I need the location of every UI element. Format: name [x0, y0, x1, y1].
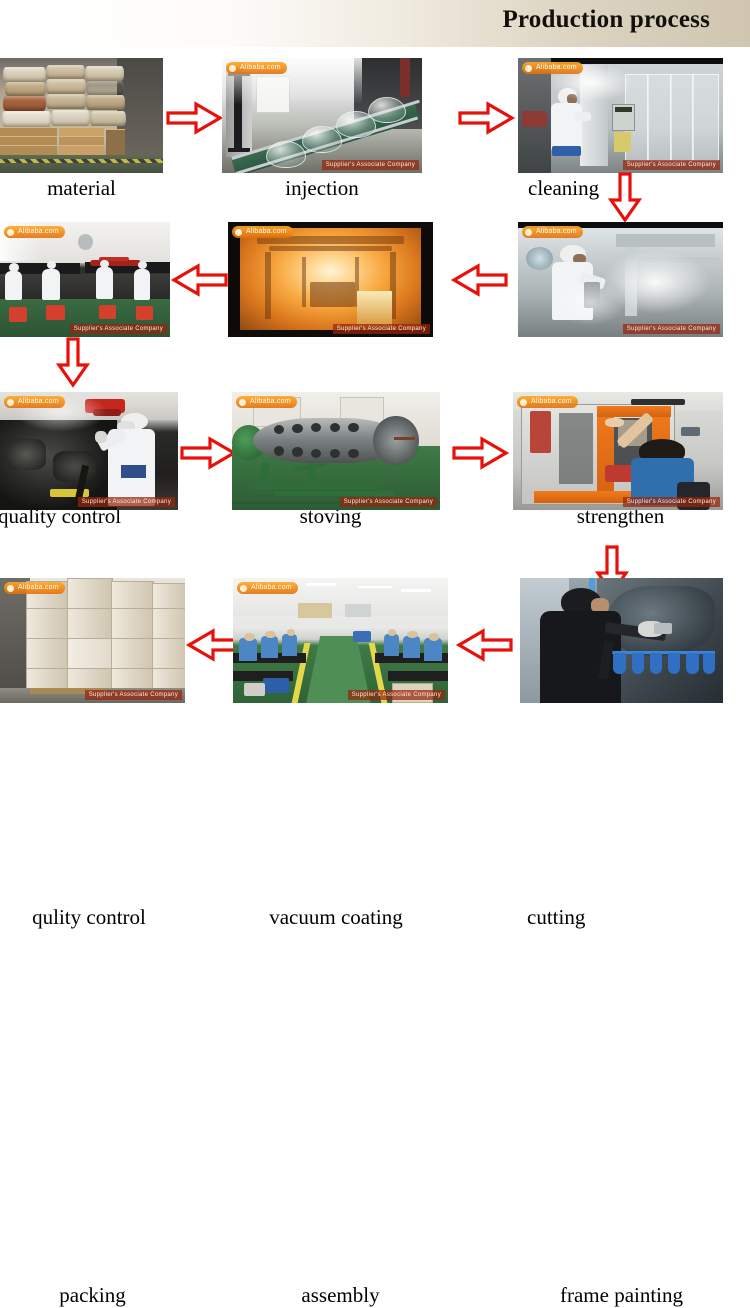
supplier-badge: Supplier's Associate Company	[623, 160, 720, 170]
photo-assembly-hall: Alibaba.com Supplier's Associate Company	[233, 578, 448, 703]
arrow-frame-painting-to-assembly	[457, 628, 513, 662]
alibaba-watermark: Alibaba.com	[237, 582, 298, 594]
step-label-vacuum-coating: vacuum coating	[269, 905, 403, 930]
supplier-badge: Supplier's Associate Company	[85, 690, 182, 700]
supplier-badge: Supplier's Associate Company	[348, 690, 445, 700]
page-title: Production process	[502, 6, 710, 34]
step-card-cutting[interactable]: Alibaba.com Supplier's Associate Company…	[513, 392, 723, 510]
step-label-frame-painting: frame painting	[560, 1283, 683, 1308]
photo-injection-conveyor-lenses: Alibaba.com Supplier's Associate Company	[222, 58, 422, 173]
step-label-qulity-control: qulity control	[32, 905, 146, 930]
step-card-stoving[interactable]: Alibaba.com Supplier's Associate Company…	[228, 222, 433, 337]
alibaba-watermark: Alibaba.com	[232, 226, 293, 238]
step-label-packing: packing	[59, 1283, 125, 1308]
step-card-packing[interactable]: Alibaba.com Supplier's Associate Company…	[0, 578, 185, 703]
supplier-badge: Supplier's Associate Company	[70, 324, 167, 334]
photo-inspection-hall: Alibaba.com Supplier's Associate Company	[0, 222, 170, 337]
alibaba-watermark: Alibaba.com	[236, 396, 297, 408]
step-label-material: material	[47, 176, 116, 201]
step-card-strengthen[interactable]: Alibaba.com Supplier's Associate Company…	[518, 222, 723, 337]
alibaba-watermark: Alibaba.com	[226, 62, 287, 74]
arrow-material-to-injection	[166, 101, 222, 135]
arrow-cleaning-to-strengthen	[608, 172, 642, 222]
supplier-badge: Supplier's Associate Company	[623, 324, 720, 334]
alibaba-watermark: Alibaba.com	[4, 226, 65, 238]
step-label-assembly: assembly	[301, 1283, 379, 1308]
alibaba-watermark: Alibaba.com	[522, 62, 583, 74]
arrow-quality-control-to-qulity-control	[56, 337, 90, 387]
photo-glowing-stoving-oven: Alibaba.com Supplier's Associate Company	[228, 222, 433, 337]
step-card-quality-control[interactable]: Alibaba.com Supplier's Associate Company…	[0, 222, 170, 337]
photo-orange-cnc-machine: Alibaba.com Supplier's Associate Company	[513, 392, 723, 510]
alibaba-watermark: Alibaba.com	[517, 396, 578, 408]
step-card-assembly[interactable]: Alibaba.com Supplier's Associate Company…	[233, 578, 448, 703]
supplier-badge: Supplier's Associate Company	[623, 497, 720, 507]
photo-strengthen-operator: Alibaba.com Supplier's Associate Company	[518, 222, 723, 337]
arrow-injection-to-cleaning	[458, 101, 514, 135]
step-card-material[interactable]: material	[0, 58, 163, 173]
step-label-cleaning: cleaning	[528, 176, 599, 201]
arrow-stoving-to-quality-control	[172, 263, 228, 297]
photo-stacked-cartons: Alibaba.com Supplier's Associate Company	[0, 578, 185, 703]
step-card-frame-painting[interactable]: frame painting	[520, 578, 723, 703]
step-card-vacuum-coating[interactable]: Alibaba.com Supplier's Associate Company…	[232, 392, 440, 510]
arrow-vacuum-coating-to-cutting	[452, 436, 508, 470]
supplier-badge: Supplier's Associate Company	[333, 324, 430, 334]
step-card-qulity-control[interactable]: Alibaba.com Supplier's Associate Company…	[0, 392, 178, 510]
supplier-badge: Supplier's Associate Company	[322, 160, 419, 170]
step-label-cutting: cutting	[527, 905, 585, 930]
step-card-cleaning[interactable]: Alibaba.com Supplier's Associate Company…	[518, 58, 723, 173]
photo-qc-operator-red-part: Alibaba.com Supplier's Associate Company	[0, 392, 178, 510]
photo-vacuum-coating-chamber: Alibaba.com Supplier's Associate Company	[232, 392, 440, 510]
page-header: Production process	[0, 0, 750, 47]
photo-stacked-material-sacks	[0, 58, 163, 173]
step-label-injection: injection	[285, 176, 358, 201]
production-process-page: Production process	[0, 0, 750, 750]
alibaba-watermark: Alibaba.com	[4, 582, 65, 594]
arrow-strengthen-to-stoving	[452, 263, 508, 297]
supplier-badge: Supplier's Associate Company	[78, 497, 175, 507]
supplier-badge: Supplier's Associate Company	[340, 497, 437, 507]
alibaba-watermark: Alibaba.com	[4, 396, 65, 408]
arrow-qulity-control-to-vacuum-coating	[180, 436, 236, 470]
photo-cleaning-line-operator: Alibaba.com Supplier's Associate Company	[518, 58, 723, 173]
photo-spray-painting-frame	[520, 578, 723, 703]
alibaba-watermark: Alibaba.com	[522, 226, 583, 238]
step-card-injection[interactable]: Alibaba.com Supplier's Associate Company…	[222, 58, 422, 173]
